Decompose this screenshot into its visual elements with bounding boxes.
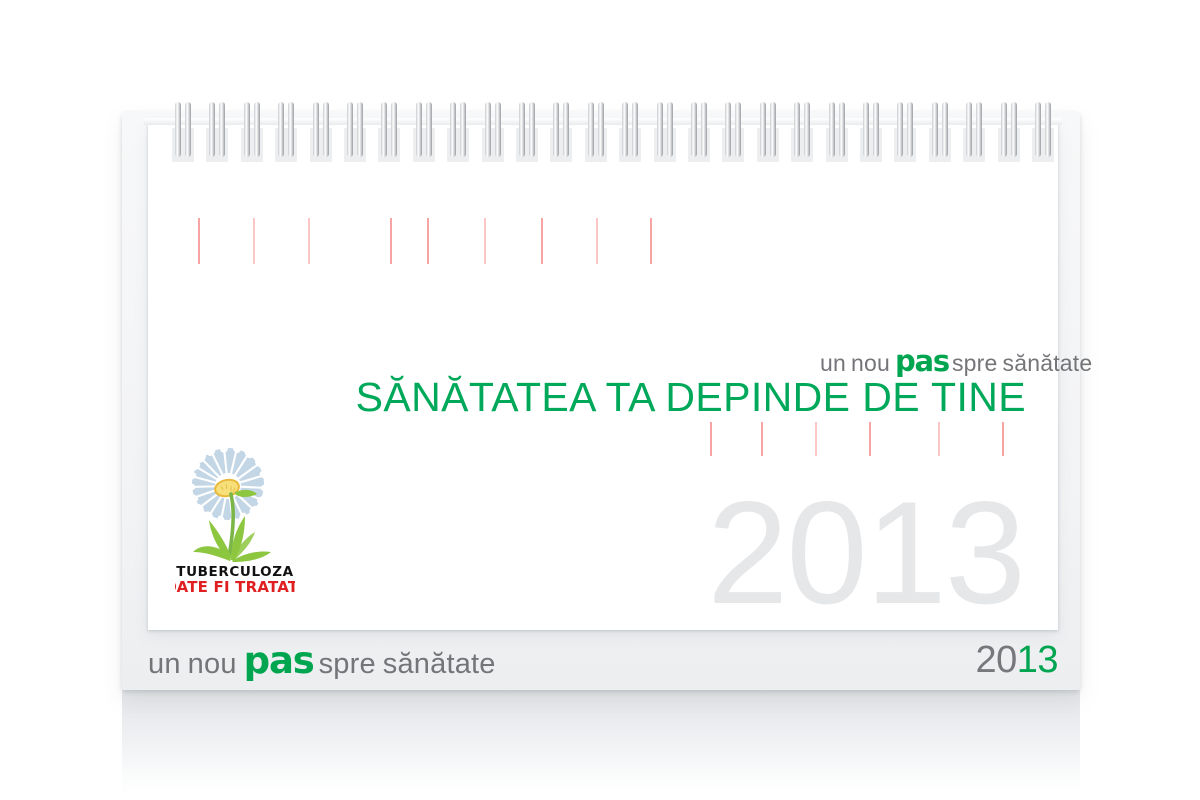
footer-year: 2013 [975, 639, 1058, 682]
footer-year-suffix: 13 [1017, 639, 1058, 681]
tick-mark [427, 218, 429, 264]
tick-mark [938, 422, 940, 456]
tick-mark [815, 422, 817, 456]
tick-mark [308, 218, 310, 264]
tick-mark [869, 422, 871, 456]
tuberculosis-logo: TUBERCULOZA POATE FI TRATATĂ! [175, 442, 295, 597]
tick-mark [484, 218, 486, 264]
tick-mark [761, 422, 763, 456]
top-tagline-wrapper: un nou pas spre sănătate [820, 344, 1092, 378]
tagline-word-spre: spre [319, 648, 376, 681]
tick-mark [541, 218, 543, 264]
tick-mark [596, 218, 598, 264]
tick-mark [1002, 422, 1004, 456]
footer-tagline: un nou pas spre sănătate [148, 639, 496, 682]
tagline-word-sanatate: sănătate [1003, 350, 1093, 377]
pas-logo-text: pas [895, 344, 949, 378]
tagline-word-sanatate: sănătate [383, 648, 496, 681]
tick-mark [390, 218, 392, 264]
tick-mark [650, 218, 652, 264]
tick-mark [198, 218, 200, 264]
tagline-word-nou: nou [188, 648, 237, 681]
calendar-mockup-stage: un nou pas spre sănătate 2013 un nou pas… [0, 0, 1200, 800]
top-tick-row [198, 218, 701, 264]
tick-mark [253, 218, 255, 264]
cover-ghost-year: 2013 [707, 480, 1024, 626]
footer-year-prefix: 20 [975, 639, 1016, 681]
cover-headline: SĂNĂTATEA TA DEPINDE DE TINE [148, 374, 1026, 421]
tagline-word-nou: nou [851, 350, 890, 377]
calendar-reflection [122, 690, 1080, 795]
calendar-cover-page: un nou pas spre sănătate SĂNĂTATEA TA DE… [148, 122, 1058, 630]
top-tagline: un nou pas spre sănătate [820, 344, 1092, 378]
logo-text-line2: POATE FI TRATATĂ! [175, 577, 295, 596]
tick-mark [710, 422, 712, 456]
board-footer: un nou pas spre sănătate 2013 [122, 630, 1080, 690]
pas-logo-text: pas [244, 639, 314, 682]
mid-tick-row [710, 422, 1004, 456]
tagline-word-un: un [820, 350, 846, 377]
tagline-word-spre: spre [952, 350, 998, 377]
tagline-word-un: un [148, 648, 181, 681]
